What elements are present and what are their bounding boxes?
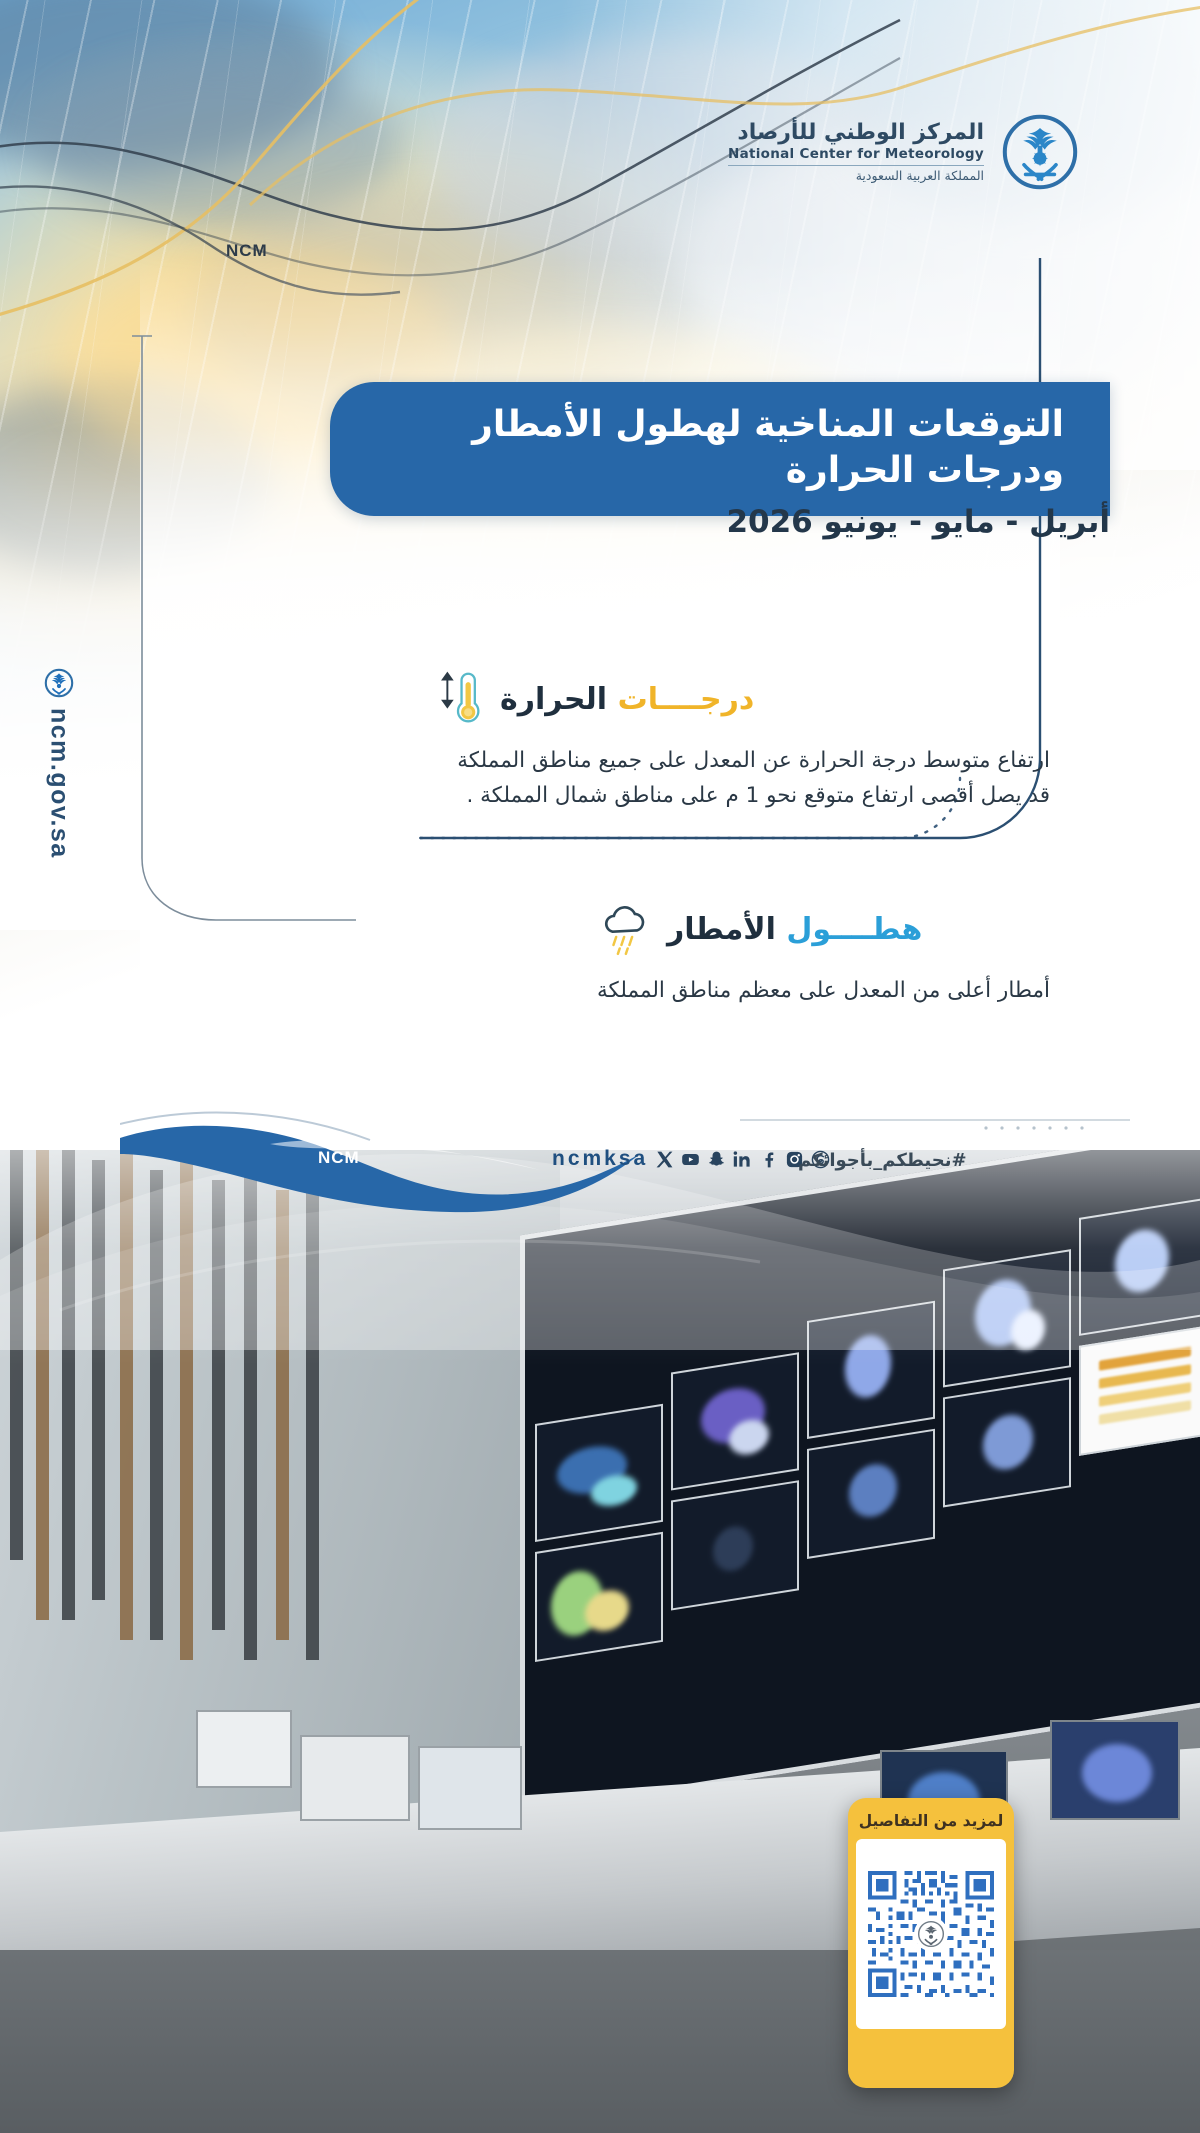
qr-center-emblem xyxy=(914,1917,948,1951)
ncm-logo: المركز الوطني للأرصاد National Center fo… xyxy=(728,112,1080,192)
section-rainfall-header: هطــــول الأمطار xyxy=(597,898,1050,960)
title-period-subtitle: أبريل - مايو - يونيو 2026 xyxy=(726,504,1110,540)
youtube-icon[interactable] xyxy=(681,1150,700,1169)
ncm-mark-top: NCM xyxy=(226,241,268,261)
section-temperature-body: ارتفاع متوسط درجة الحرارة عن المعدل على … xyxy=(430,744,1050,814)
logo-text-block: المركز الوطني للأرصاد National Center fo… xyxy=(728,121,984,183)
poster-root: NCM المركز الوطني للأرصاد National Cente… xyxy=(0,0,1200,2133)
section-temperature: درجــــات الحرارة ارتفاع متوسط درجة الحر… xyxy=(430,668,1050,814)
x-twitter-icon[interactable] xyxy=(655,1150,674,1169)
saudi-palm-swords-emblem-icon xyxy=(1000,112,1080,192)
campaign-hashtag[interactable]: #نحيطكم_بأجوائكم xyxy=(798,1150,967,1171)
logo-title-english: National Center for Meteorology xyxy=(728,147,984,166)
logo-title-arabic: المركز الوطني للأرصاد xyxy=(728,121,984,146)
section-temperature-header: درجــــات الحرارة xyxy=(430,668,1050,730)
thermometer-icon xyxy=(430,668,486,730)
section-rainfall: هطــــول الأمطار أمطار أعلى من المعدل عل… xyxy=(597,898,1050,1009)
section-rainfall-title-rest: الأمطار xyxy=(667,912,776,947)
website-url-text[interactable]: ncm.gov.sa xyxy=(45,708,74,859)
section-rainfall-title-highlight: هطــــول xyxy=(786,912,922,947)
saudi-palm-swords-emblem-icon xyxy=(917,1920,945,1948)
qr-code-card[interactable]: لمزيد من التفاصيل xyxy=(848,1798,1014,2088)
saudi-palm-swords-emblem-icon xyxy=(44,668,74,698)
linkedin-icon[interactable] xyxy=(733,1150,752,1169)
snapchat-icon[interactable] xyxy=(707,1150,726,1169)
social-handle-text: ncmksa xyxy=(552,1147,648,1171)
facebook-icon[interactable] xyxy=(759,1150,778,1169)
qr-card-label: لمزيد من التفاصيل xyxy=(848,1808,1014,1839)
section-temperature-title: درجــــات الحرارة xyxy=(500,682,754,717)
section-temperature-title-rest: الحرارة xyxy=(500,682,607,717)
logo-subtitle-arabic: المملكة العربية السعودية xyxy=(728,169,984,183)
section-rainfall-title: هطــــول الأمطار xyxy=(667,912,922,947)
title-banner: التوقعات المناخية لهطول الأمطار ودرجات ا… xyxy=(330,382,1110,516)
rain-cloud-icon xyxy=(597,898,653,960)
section-rainfall-body: أمطار أعلى من المعدل على معظم مناطق المم… xyxy=(597,974,1050,1009)
website-url-vertical[interactable]: ncm.gov.sa xyxy=(44,668,74,859)
page-title: التوقعات المناخية لهطول الأمطار ودرجات ا… xyxy=(360,402,1064,494)
qr-code-container[interactable] xyxy=(856,1839,1006,2029)
ncm-mark-footer: NCM xyxy=(318,1148,360,1168)
section-temperature-title-highlight: درجــــات xyxy=(618,682,755,717)
social-handle-row[interactable]: ncmksa xyxy=(552,1147,830,1171)
